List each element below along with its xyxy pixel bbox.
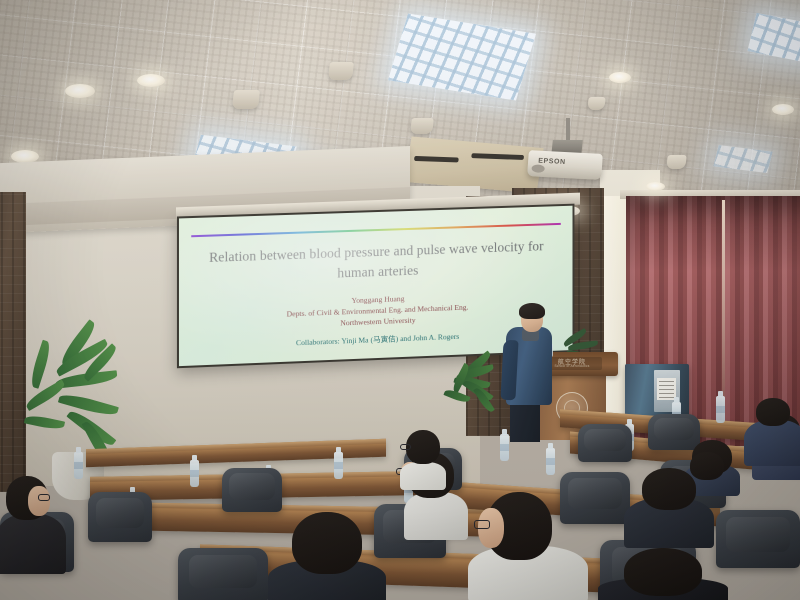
water-bottle: [500, 434, 509, 461]
slide-accent-rule: [191, 223, 561, 237]
audience-chair[interactable]: [716, 510, 800, 568]
audience-chair[interactable]: [648, 414, 700, 450]
water-bottle: [716, 396, 725, 423]
projector-lens: [531, 164, 545, 173]
audience-chair[interactable]: [578, 424, 632, 462]
audience-chair[interactable]: [88, 492, 152, 542]
ceiling-speaker: [232, 90, 260, 109]
ceiling-downlight: [609, 72, 631, 83]
slide-author-block: Yonggang Huang Depts. of Civil & Environ…: [191, 287, 561, 334]
speaker-arm: [500, 340, 518, 401]
ceiling-downlight: [772, 104, 794, 115]
ceiling-speaker: [410, 118, 434, 134]
hvac-vent: [471, 153, 524, 160]
slide-title: Relation between blood pressure and puls…: [203, 236, 549, 287]
cabinet-posted-notice: [657, 378, 676, 400]
ceiling-downlight: [646, 182, 665, 191]
ceiling-projector: EPSON: [527, 150, 603, 180]
water-bottle: [546, 448, 555, 475]
water-bottle: [74, 452, 83, 479]
audience-chair[interactable]: [222, 468, 282, 512]
water-bottle: [334, 452, 343, 479]
audience-chair[interactable]: [178, 548, 268, 600]
ceiling-speaker: [328, 62, 354, 80]
ceiling-downlight: [137, 74, 165, 87]
lecture-hall-scene: EPSON Relation between blood pressure an…: [0, 0, 800, 600]
speaker-legs: [510, 400, 540, 442]
ceiling-downlight: [65, 84, 95, 98]
audience-chair[interactable]: [560, 472, 630, 524]
speaker-hair: [519, 303, 545, 319]
potted-palm-left: [22, 352, 152, 462]
water-bottle: [190, 460, 199, 487]
hvac-vent: [414, 156, 459, 163]
